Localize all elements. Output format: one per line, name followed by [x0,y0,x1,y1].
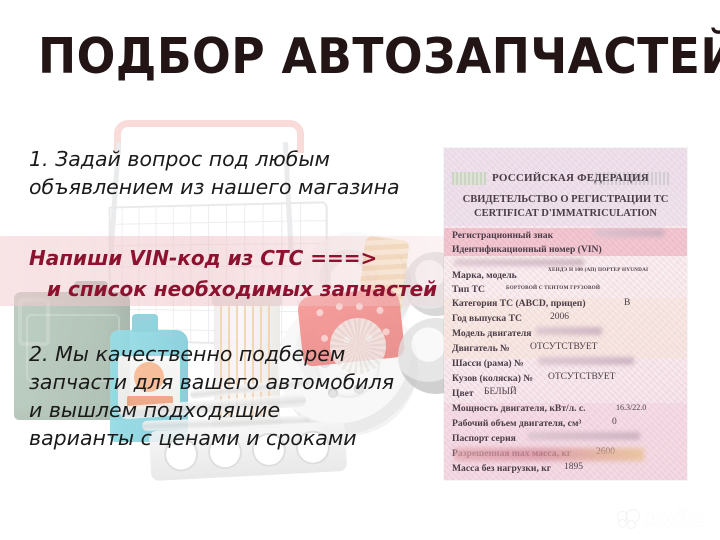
ad-image-canvas: ПОДБОР АВТОЗАПЧАСТЕЙ 1. Задай вопрос под… [0,0,720,540]
doc-field-label: Масса без нагрузки, кг [452,463,551,474]
step-2-line-4: варианты с ценами и сроками [29,424,394,452]
redacted-value [536,327,602,335]
doc-field-label: Паспорт серия [452,433,516,444]
doc-field-value: БЕЛЫЙ [484,387,517,397]
doc-field-value: 0 [612,417,617,427]
doc-field-label: Модель двигателя [452,328,531,339]
redacted-bottom-band [454,448,644,461]
doc-field-value: 16.3/22.0 [616,403,646,412]
redacted-value [538,357,634,365]
redacted-value [454,259,584,266]
vin-callout-line-2: и список необходимых запчастей [29,274,437,305]
vehicle-registration-certificate: РОССИЙСКАЯ ФЕДЕРАЦИЯ СВИДЕТЕЛЬСТВО О РЕГ… [444,148,687,480]
doc-field-label: Кузов (коляска) № [452,373,533,384]
doc-country-label: РОССИЙСКАЯ ФЕДЕРАЦИЯ [492,172,649,184]
doc-field-value: ОТСУТСТВУЕТ [530,342,597,352]
doc-field-label: Рабочий объем двигателя, см³ [452,418,581,429]
doc-field-label: Двигатель № [452,343,510,354]
step-2-line-3: и вышлем подходящие [29,396,394,424]
step-1-text: 1. Задай вопрос под любым объявлением из… [29,145,400,201]
doc-title-fr: CERTIFICAT D'IMMATRICULATION [444,208,687,219]
doc-title-ru: СВИДЕТЕЛЬСТВО О РЕГИСТРАЦИИ ТС [444,194,687,205]
step-2-line-2: запчасти для вашего автомобиля [29,368,394,396]
avito-wordmark: Avito [644,508,708,531]
doc-field-label: Мощность двигателя, кВт/л. с. [452,403,586,414]
redacted-value [594,229,664,237]
doc-field-value: ОТСУТСТВУЕТ [548,372,615,382]
doc-field-value: ХЕНДЭ Н 100 (АП) ПОРТЕР HYUNDAI [548,267,648,273]
doc-field-label: Шасси (рама) № [452,358,524,369]
step-1-line-1: 1. Задай вопрос под любым [29,145,400,173]
doc-field-label: Марка, модель [452,270,517,281]
vin-callout-line-1: Напиши VIN-код из СТС ===> [29,246,377,270]
avito-watermark: Avito [618,506,710,532]
doc-field-value: 1895 [564,462,583,472]
doc-field-label: Тип ТС [452,284,485,295]
doc-field-label: Категория ТС (ABCD, прицеп) [452,298,586,309]
vin-callout-text: Напиши VIN-код из СТС ===> и список необ… [29,243,437,305]
green-guilloche-box [452,172,486,185]
step-2-line-1: 2. Мы качественно подберем [29,340,394,368]
step-1-line-2: объявлением из нашего магазина [29,173,400,201]
redacted-value [528,432,640,440]
step-2-text: 2. Мы качественно подберем запчасти для … [29,340,394,452]
doc-field-label: Идентификационный номер (VIN) [452,244,602,255]
doc-field-label: Регистрационный знак [452,230,553,241]
page-title: ПОДБОР АВТОЗАПЧАСТЕЙ [38,32,720,81]
doc-field-value: БОРТОВОЙ С ТЕНТОМ ГРУЗОВОЙ [506,285,600,291]
doc-field-label: Год выпуска ТС [452,313,522,324]
doc-field-value: 2006 [550,312,569,322]
doc-field-value: B [624,298,630,308]
doc-field-label: Цвет [452,388,474,399]
avito-dots-icon [618,510,640,528]
